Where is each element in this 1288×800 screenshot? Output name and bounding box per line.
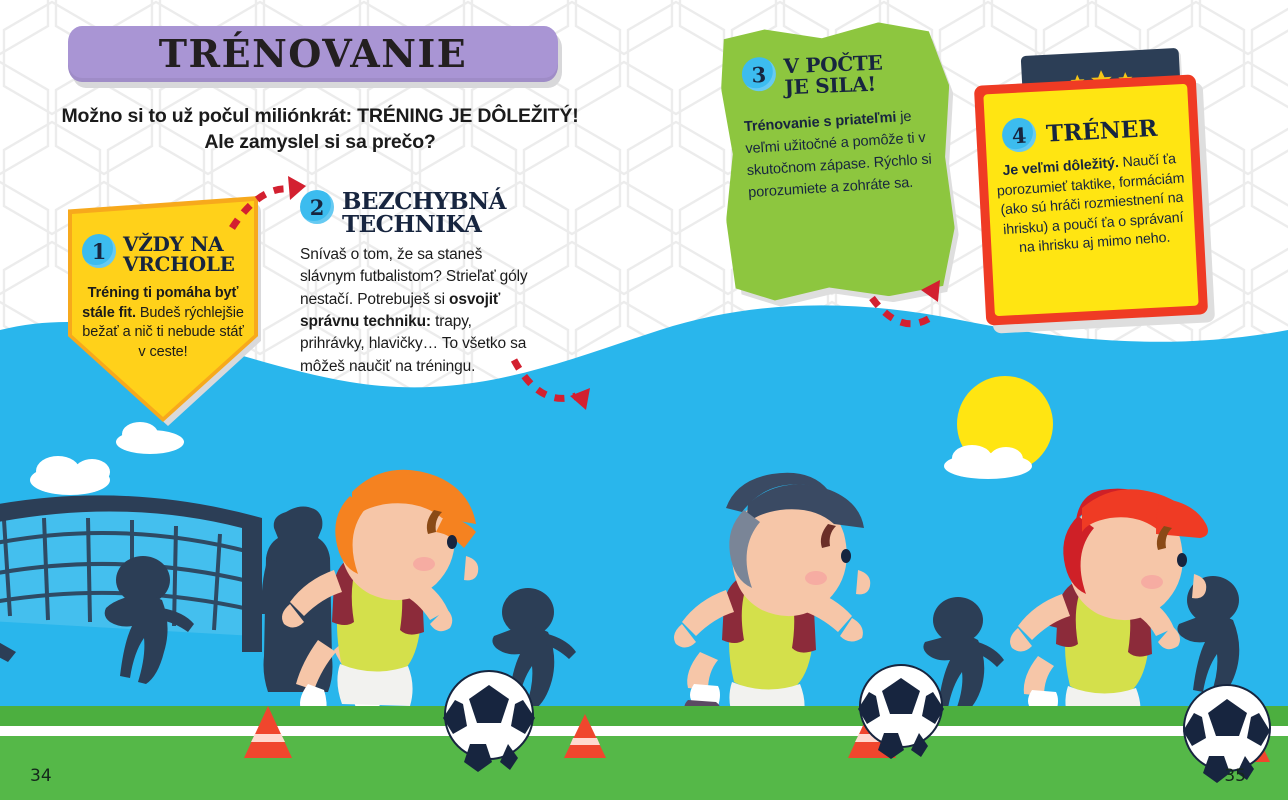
arrow-3-to-4 <box>872 298 930 324</box>
dashed-arrows <box>0 0 1288 800</box>
book-spread: TRÉNOVANIE Možno si to už počul miliónkr… <box>0 0 1288 800</box>
arrowhead-2 <box>570 388 590 410</box>
arrow-1-to-2 <box>232 189 296 228</box>
arrowhead-3 <box>921 280 940 302</box>
arrowhead-1 <box>288 176 306 200</box>
arrow-2-to-3 <box>514 360 576 398</box>
